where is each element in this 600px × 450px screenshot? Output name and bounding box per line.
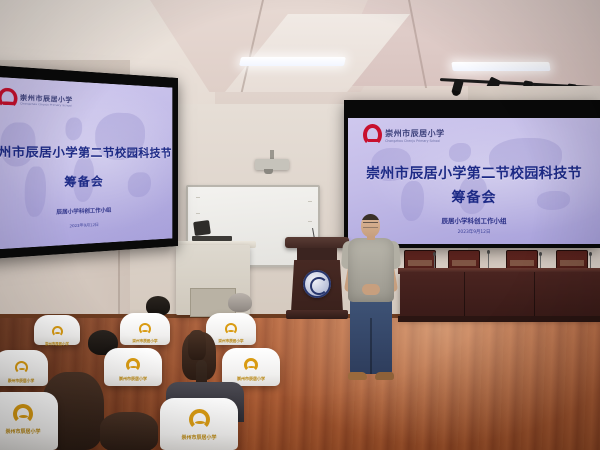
school-logo-mark — [0, 87, 17, 108]
chair-school-name: 崇州市辰居小学 — [120, 339, 170, 344]
audience-chair: 崇州市辰居小学 — [34, 315, 80, 345]
console-monitor — [193, 220, 211, 236]
audience-chair: 崇州市辰居小学 — [160, 398, 238, 450]
dais-front-panel — [400, 272, 600, 318]
chair-logo-mark — [225, 323, 237, 335]
left-screen-surface: 崇州市辰居小学 Chongzhou Chenju Primary School … — [0, 76, 172, 250]
audience-chair: 崇州市辰居小学 — [104, 348, 162, 386]
right-led-screen[interactable]: 崇州市辰居小学 Chongzhou Chenju Primary School … — [344, 100, 600, 248]
slide-title-line2: 筹备会 — [348, 187, 600, 207]
ceiling-panel-light — [451, 62, 550, 71]
right-screen-surface: 崇州市辰居小学 Chongzhou Chenju Primary School … — [348, 118, 600, 244]
chair-school-name: 崇州市辰居小学 — [34, 341, 80, 346]
audience-chair: 崇州市辰居小学 — [222, 348, 280, 386]
audience-chair: 崇州市辰居小学 — [0, 350, 48, 386]
console-keyboard — [192, 236, 232, 241]
audience-hair — [100, 412, 158, 450]
slide-title-line1: 崇州市辰居小学第二节校园科技节 — [0, 142, 172, 161]
projector-lens-icon — [264, 169, 273, 174]
chair-school-name: 崇州市辰居小学 — [160, 434, 238, 441]
left-led-screen[interactable]: 崇州市辰居小学 Chongzhou Chenju Primary School … — [0, 64, 178, 260]
podium-base — [286, 310, 348, 319]
presentation-slide: 崇州市辰居小学 Chongzhou Chenju Primary School … — [0, 76, 172, 250]
presenter-hands — [362, 284, 380, 295]
chair-logo-mark — [52, 326, 63, 337]
presenter-shoe-left — [348, 372, 367, 380]
presenter-shoe-right — [375, 372, 394, 380]
dais-seam — [534, 272, 535, 318]
floor-reflection — [240, 316, 600, 450]
podium-top — [285, 237, 349, 248]
podium-neck — [297, 248, 337, 262]
chair-logo-mark — [126, 358, 140, 372]
audience-hair — [188, 330, 206, 360]
chair-logo-mark — [189, 409, 210, 430]
presenter-leg-seam — [370, 318, 372, 374]
glasses-icon — [363, 222, 378, 228]
dais-seam — [464, 272, 465, 318]
slide-presenter: 辰居小学科创工作小组 — [348, 215, 600, 225]
dais-kickplate — [398, 316, 600, 322]
ceiling-panel-light — [239, 57, 346, 66]
school-logo-mark — [363, 124, 382, 146]
slide-date: 2023年9月12日 — [348, 229, 600, 235]
audience-chair: 崇州市辰居小学 — [120, 313, 170, 345]
audience-head — [228, 293, 252, 312]
chair-school-name: 崇州市辰居小学 — [0, 378, 48, 384]
dais-microphone — [488, 252, 489, 268]
chair-logo-mark — [13, 404, 33, 424]
slide-title-line1: 崇州市辰居小学第二节校园科技节 — [348, 163, 600, 183]
chair-logo-mark — [139, 323, 151, 335]
chair-logo-mark — [244, 358, 258, 372]
slide-logo-school-name: 崇州市辰居小学 — [385, 128, 445, 139]
audience-chair: 崇州市辰居小学 — [0, 392, 58, 450]
chair-school-name: 崇州市辰居小学 — [0, 428, 58, 435]
chair-school-name: 崇州市辰居小学 — [104, 376, 162, 382]
chair-logo-mark — [15, 361, 28, 374]
school-crest-icon — [303, 270, 331, 298]
auditorium-photo: 崇州市辰居小学 Chongzhou Chenju Primary School … — [0, 0, 600, 450]
slide-logo-school-name-en: Chongzhou Chenju Primary School — [385, 139, 445, 143]
presentation-slide: 崇州市辰居小学 Chongzhou Chenju Primary School … — [348, 118, 600, 244]
